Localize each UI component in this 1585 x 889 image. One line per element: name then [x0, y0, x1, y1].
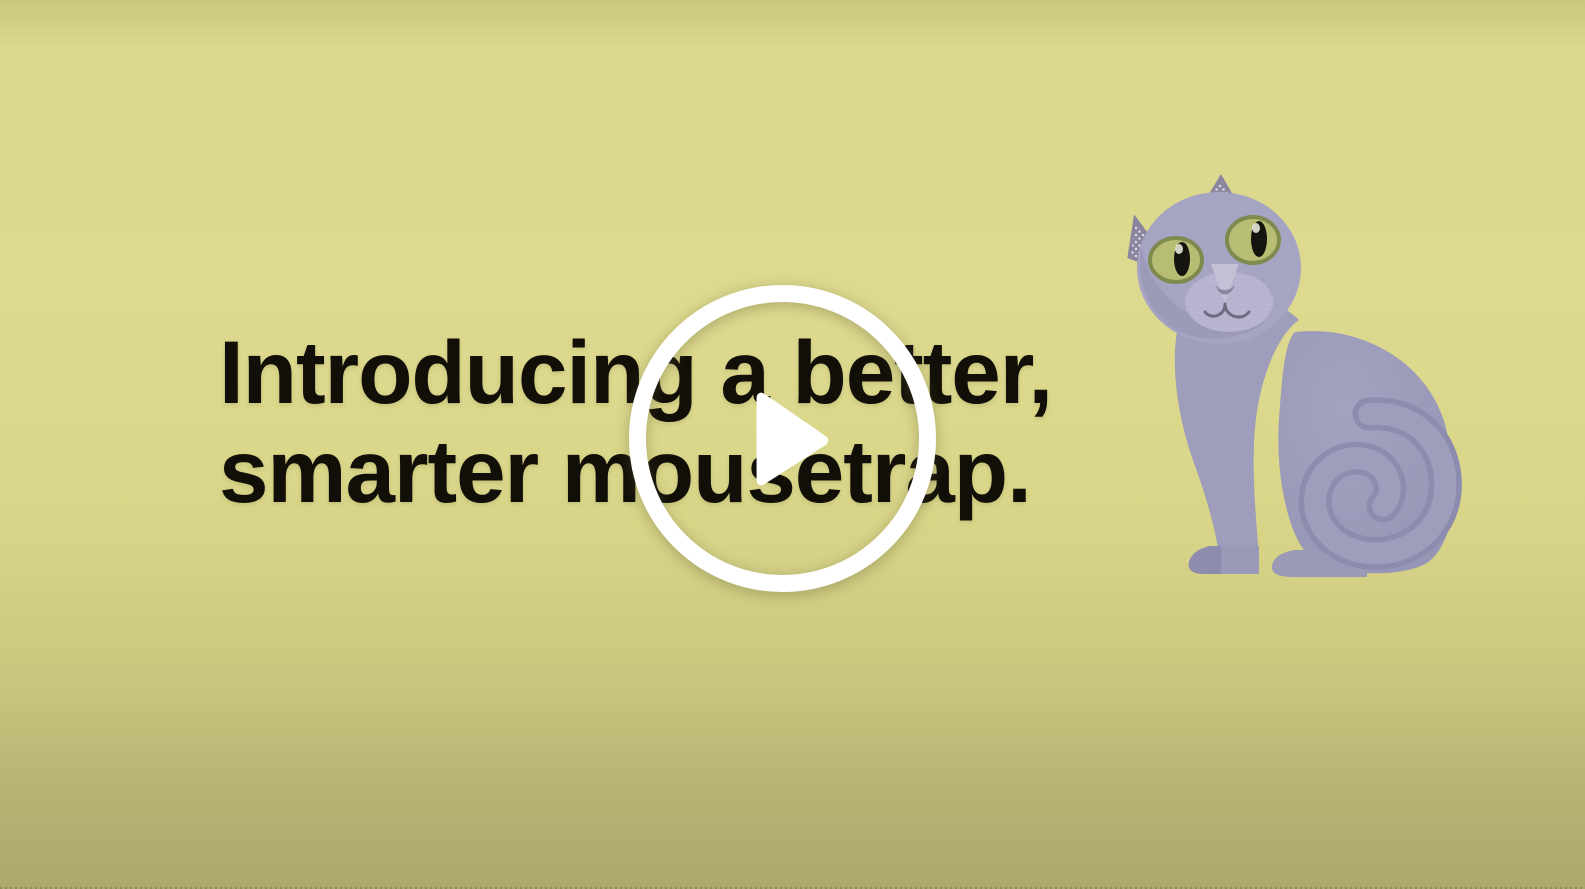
- cat-eye-left-icon: [1150, 238, 1202, 282]
- cat-eye-right-icon: [1227, 217, 1279, 263]
- sitting-cat-illustration: [1099, 156, 1471, 586]
- play-button[interactable]: [629, 285, 936, 592]
- cat-front-paw-shade: [1189, 546, 1221, 574]
- video-player-poster[interactable]: Introducing a better, smarter mousetrap.: [0, 0, 1585, 889]
- play-triangle-icon: [748, 392, 830, 486]
